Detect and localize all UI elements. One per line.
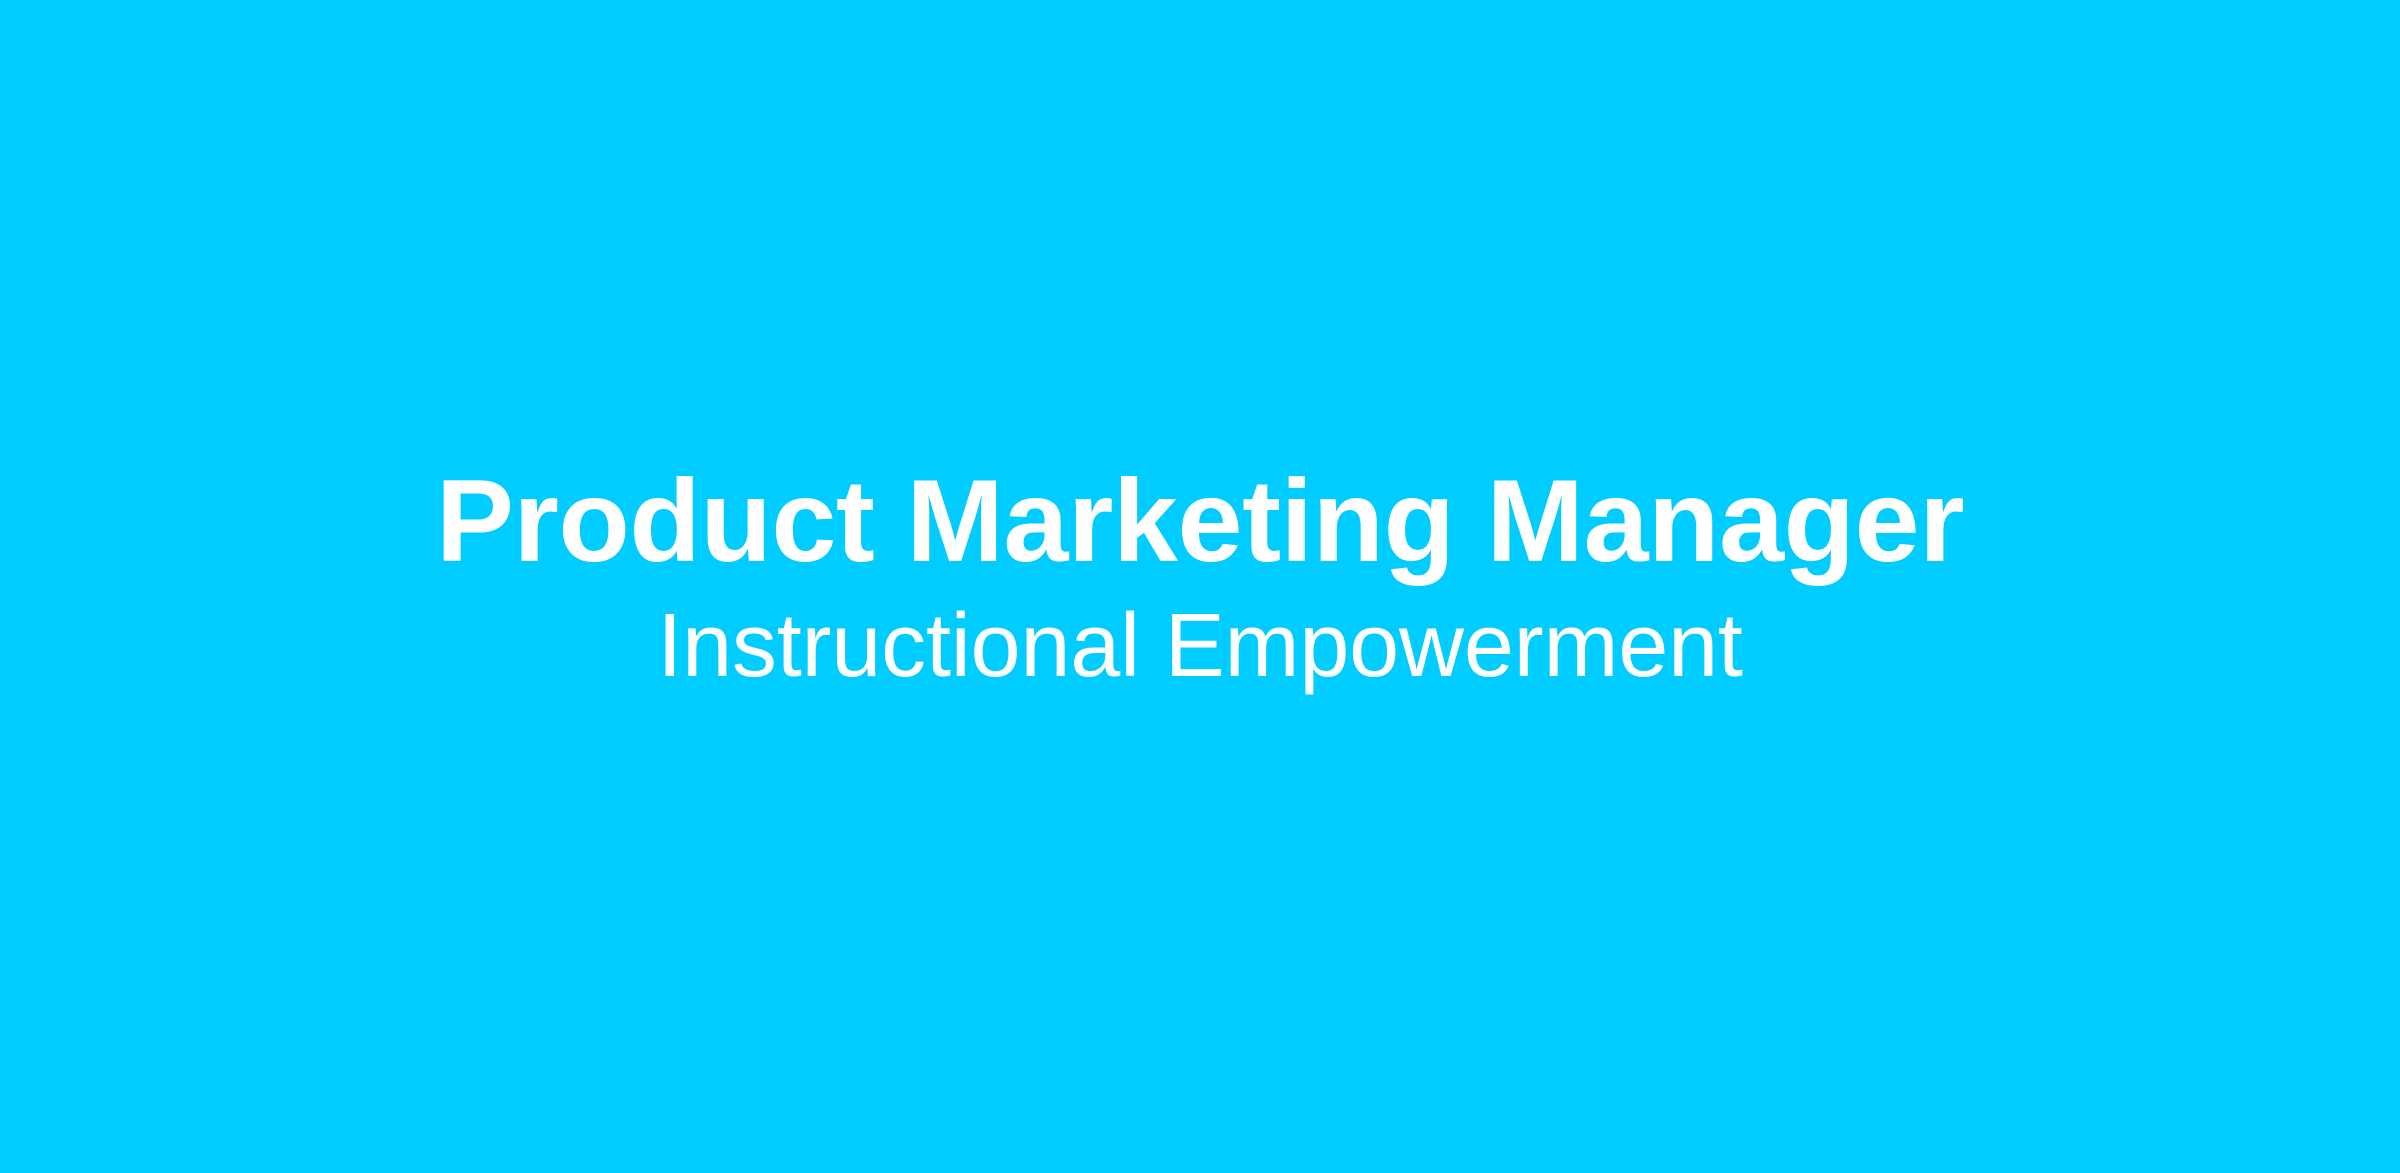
hero-content: Product Marketing Manager Instructional … <box>0 462 2400 691</box>
page-subtitle: Instructional Empowerment <box>657 601 1742 691</box>
hero-banner: Product Marketing Manager Instructional … <box>0 0 2400 1173</box>
page-title: Product Marketing Manager <box>436 462 1964 579</box>
